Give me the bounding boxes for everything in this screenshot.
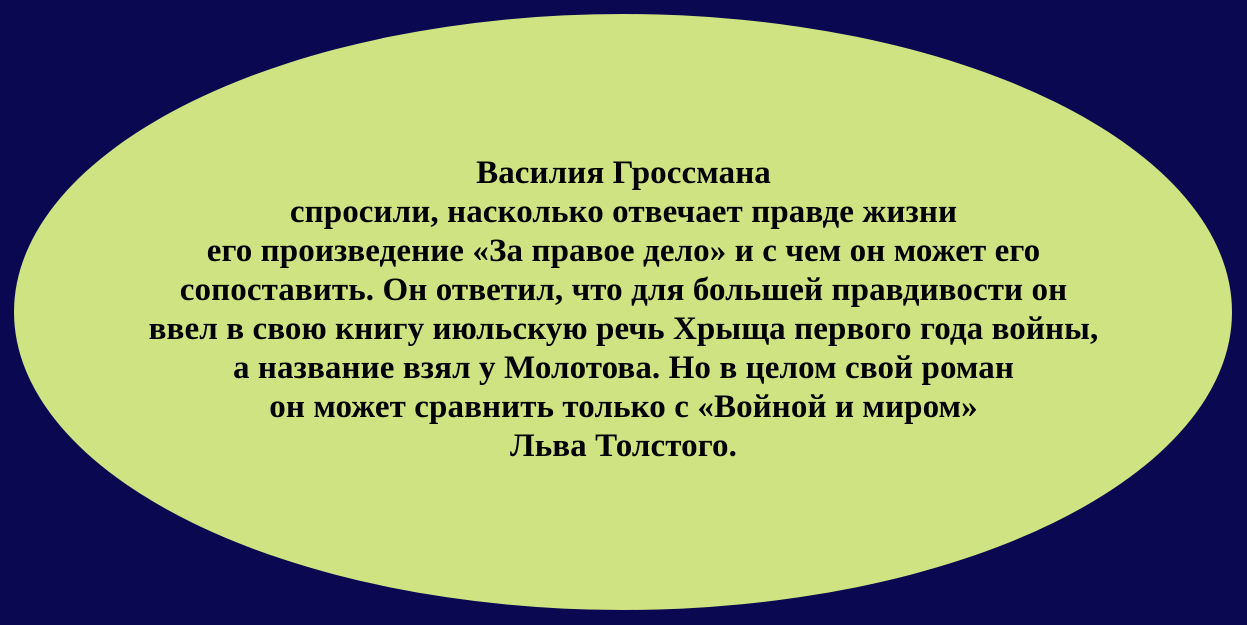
- quote-line-4: сопоставить. Он ответил, что для большей…: [0, 271, 1247, 310]
- quote-line-6: а название взял у Молотова. Но в целом с…: [0, 349, 1247, 388]
- slide-canvas: Василия Гроссмана спросили, насколько от…: [0, 0, 1247, 625]
- quote-line-1: Василия Гроссмана: [0, 154, 1247, 193]
- quote-text-block[interactable]: Василия Гроссмана спросили, насколько от…: [0, 0, 1247, 625]
- quote-line-8: Льва Толстого.: [0, 427, 1247, 466]
- quote-line-2: спросили, насколько отвечает правде жизн…: [0, 193, 1247, 232]
- quote-line-5: ввел в свою книгу июльскую речь Хрыща пе…: [0, 310, 1247, 349]
- quote-line-7: он может сравнить только с «Войной и мир…: [0, 388, 1247, 427]
- quote-line-3: его произведение «За правое дело» и с че…: [0, 232, 1247, 271]
